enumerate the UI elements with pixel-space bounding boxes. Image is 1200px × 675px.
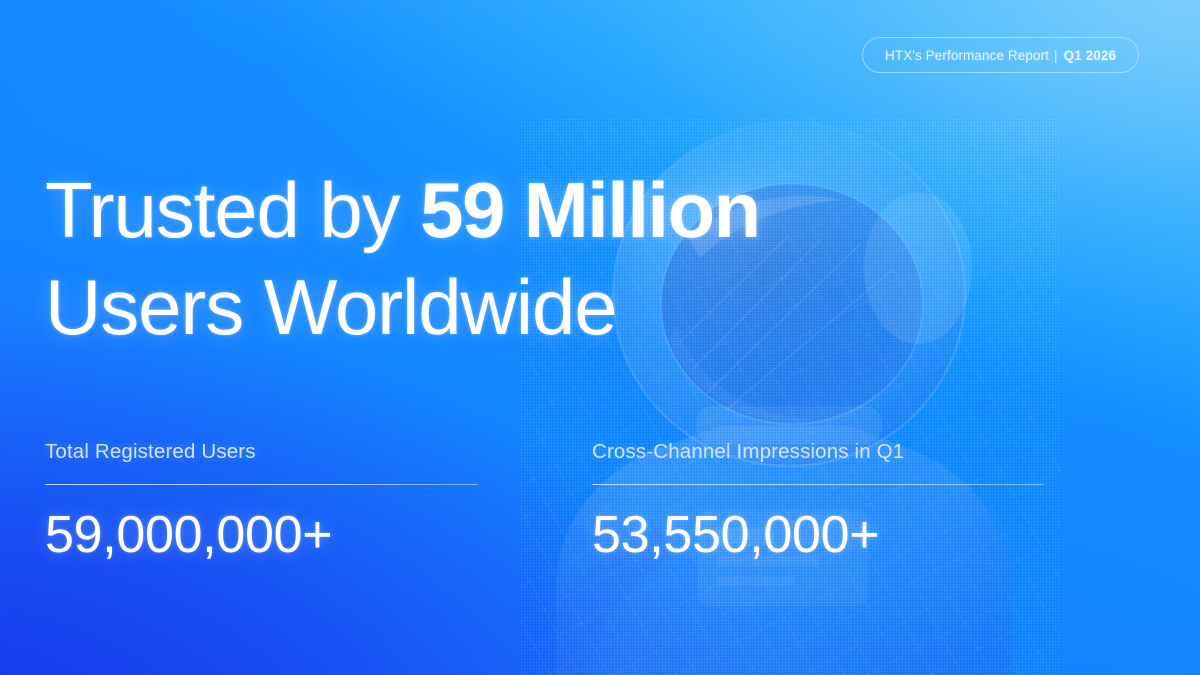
- page-title: Trusted by 59 Million Users Worldwide: [45, 162, 945, 356]
- stat-label: Total Registered Users: [45, 440, 478, 464]
- report-badge-name: HTX's Performance Report: [885, 48, 1049, 63]
- headline-line2: Users Worldwide: [45, 263, 617, 351]
- stat-block-total-registered-users: Total Registered Users 59,000,000+: [45, 440, 478, 563]
- stat-divider: [592, 484, 1044, 485]
- stat-label: Cross-Channel Impressions in Q1: [592, 440, 1044, 464]
- headline-line1-strong: 59 Million: [420, 166, 759, 254]
- stat-block-cross-channel-impressions: Cross-Channel Impressions in Q1 53,550,0…: [592, 440, 1044, 563]
- report-badge-separator: |: [1054, 48, 1058, 63]
- report-badge-period: Q1 2026: [1064, 48, 1117, 63]
- astronaut-neck-ring: [696, 406, 882, 444]
- headline-line1-regular: Trusted by: [45, 166, 420, 254]
- stat-value: 59,000,000+: [45, 507, 478, 563]
- stat-value: 53,550,000+: [592, 507, 1044, 563]
- stats-row: Total Registered Users 59,000,000+ Cross…: [45, 440, 1045, 563]
- report-badge[interactable]: HTX's Performance Report | Q1 2026: [862, 37, 1139, 73]
- report-slide: HTX's Performance Report | Q1 2026 Trust…: [0, 0, 1200, 675]
- stat-divider: [45, 484, 478, 485]
